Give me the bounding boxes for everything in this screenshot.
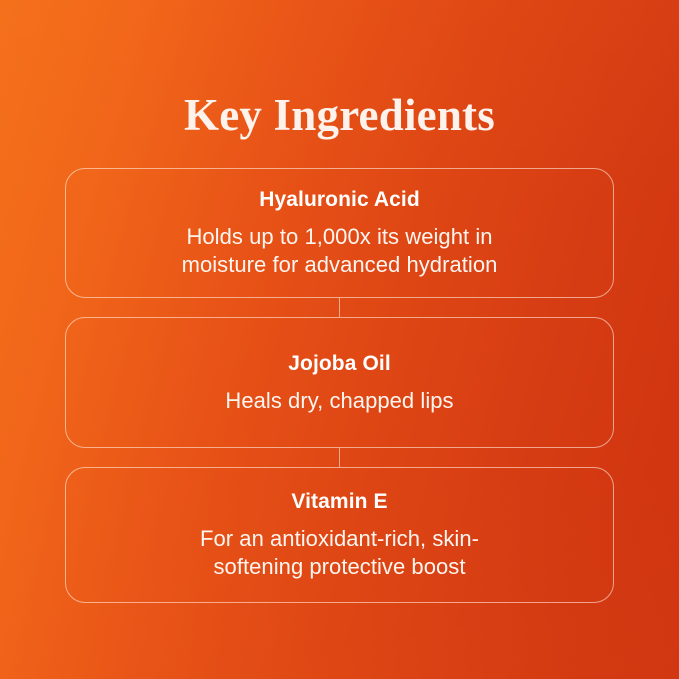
ingredient-description-line: Holds up to 1,000x its weight in: [182, 223, 498, 251]
ingredient-description-line: moisture for advanced hydration: [182, 251, 498, 279]
key-ingredients-infographic: Key Ingredients Hyaluronic Acid Holds up…: [0, 0, 679, 679]
ingredient-description-line: For an antioxidant-rich, skin-: [200, 525, 479, 553]
page-title: Key Ingredients: [0, 87, 679, 143]
ingredient-description: Heals dry, chapped lips: [225, 387, 453, 415]
ingredient-card-hyaluronic-acid: Hyaluronic Acid Holds up to 1,000x its w…: [65, 168, 614, 298]
ingredient-description-line: softening protective boost: [200, 553, 479, 581]
ingredient-description: Holds up to 1,000x its weight in moistur…: [182, 223, 498, 279]
ingredient-description: For an antioxidant-rich, skin- softening…: [200, 525, 479, 581]
ingredient-description-line: Heals dry, chapped lips: [225, 387, 453, 415]
ingredient-name: Vitamin E: [291, 489, 387, 515]
card-connector-line: [339, 448, 340, 467]
ingredient-card-vitamin-e: Vitamin E For an antioxidant-rich, skin-…: [65, 467, 614, 603]
ingredient-name: Hyaluronic Acid: [259, 187, 420, 213]
ingredient-name: Jojoba Oil: [288, 351, 391, 377]
ingredient-card-list: Hyaluronic Acid Holds up to 1,000x its w…: [65, 168, 614, 603]
card-connector-line: [339, 298, 340, 317]
ingredient-card-jojoba-oil: Jojoba Oil Heals dry, chapped lips: [65, 317, 614, 448]
